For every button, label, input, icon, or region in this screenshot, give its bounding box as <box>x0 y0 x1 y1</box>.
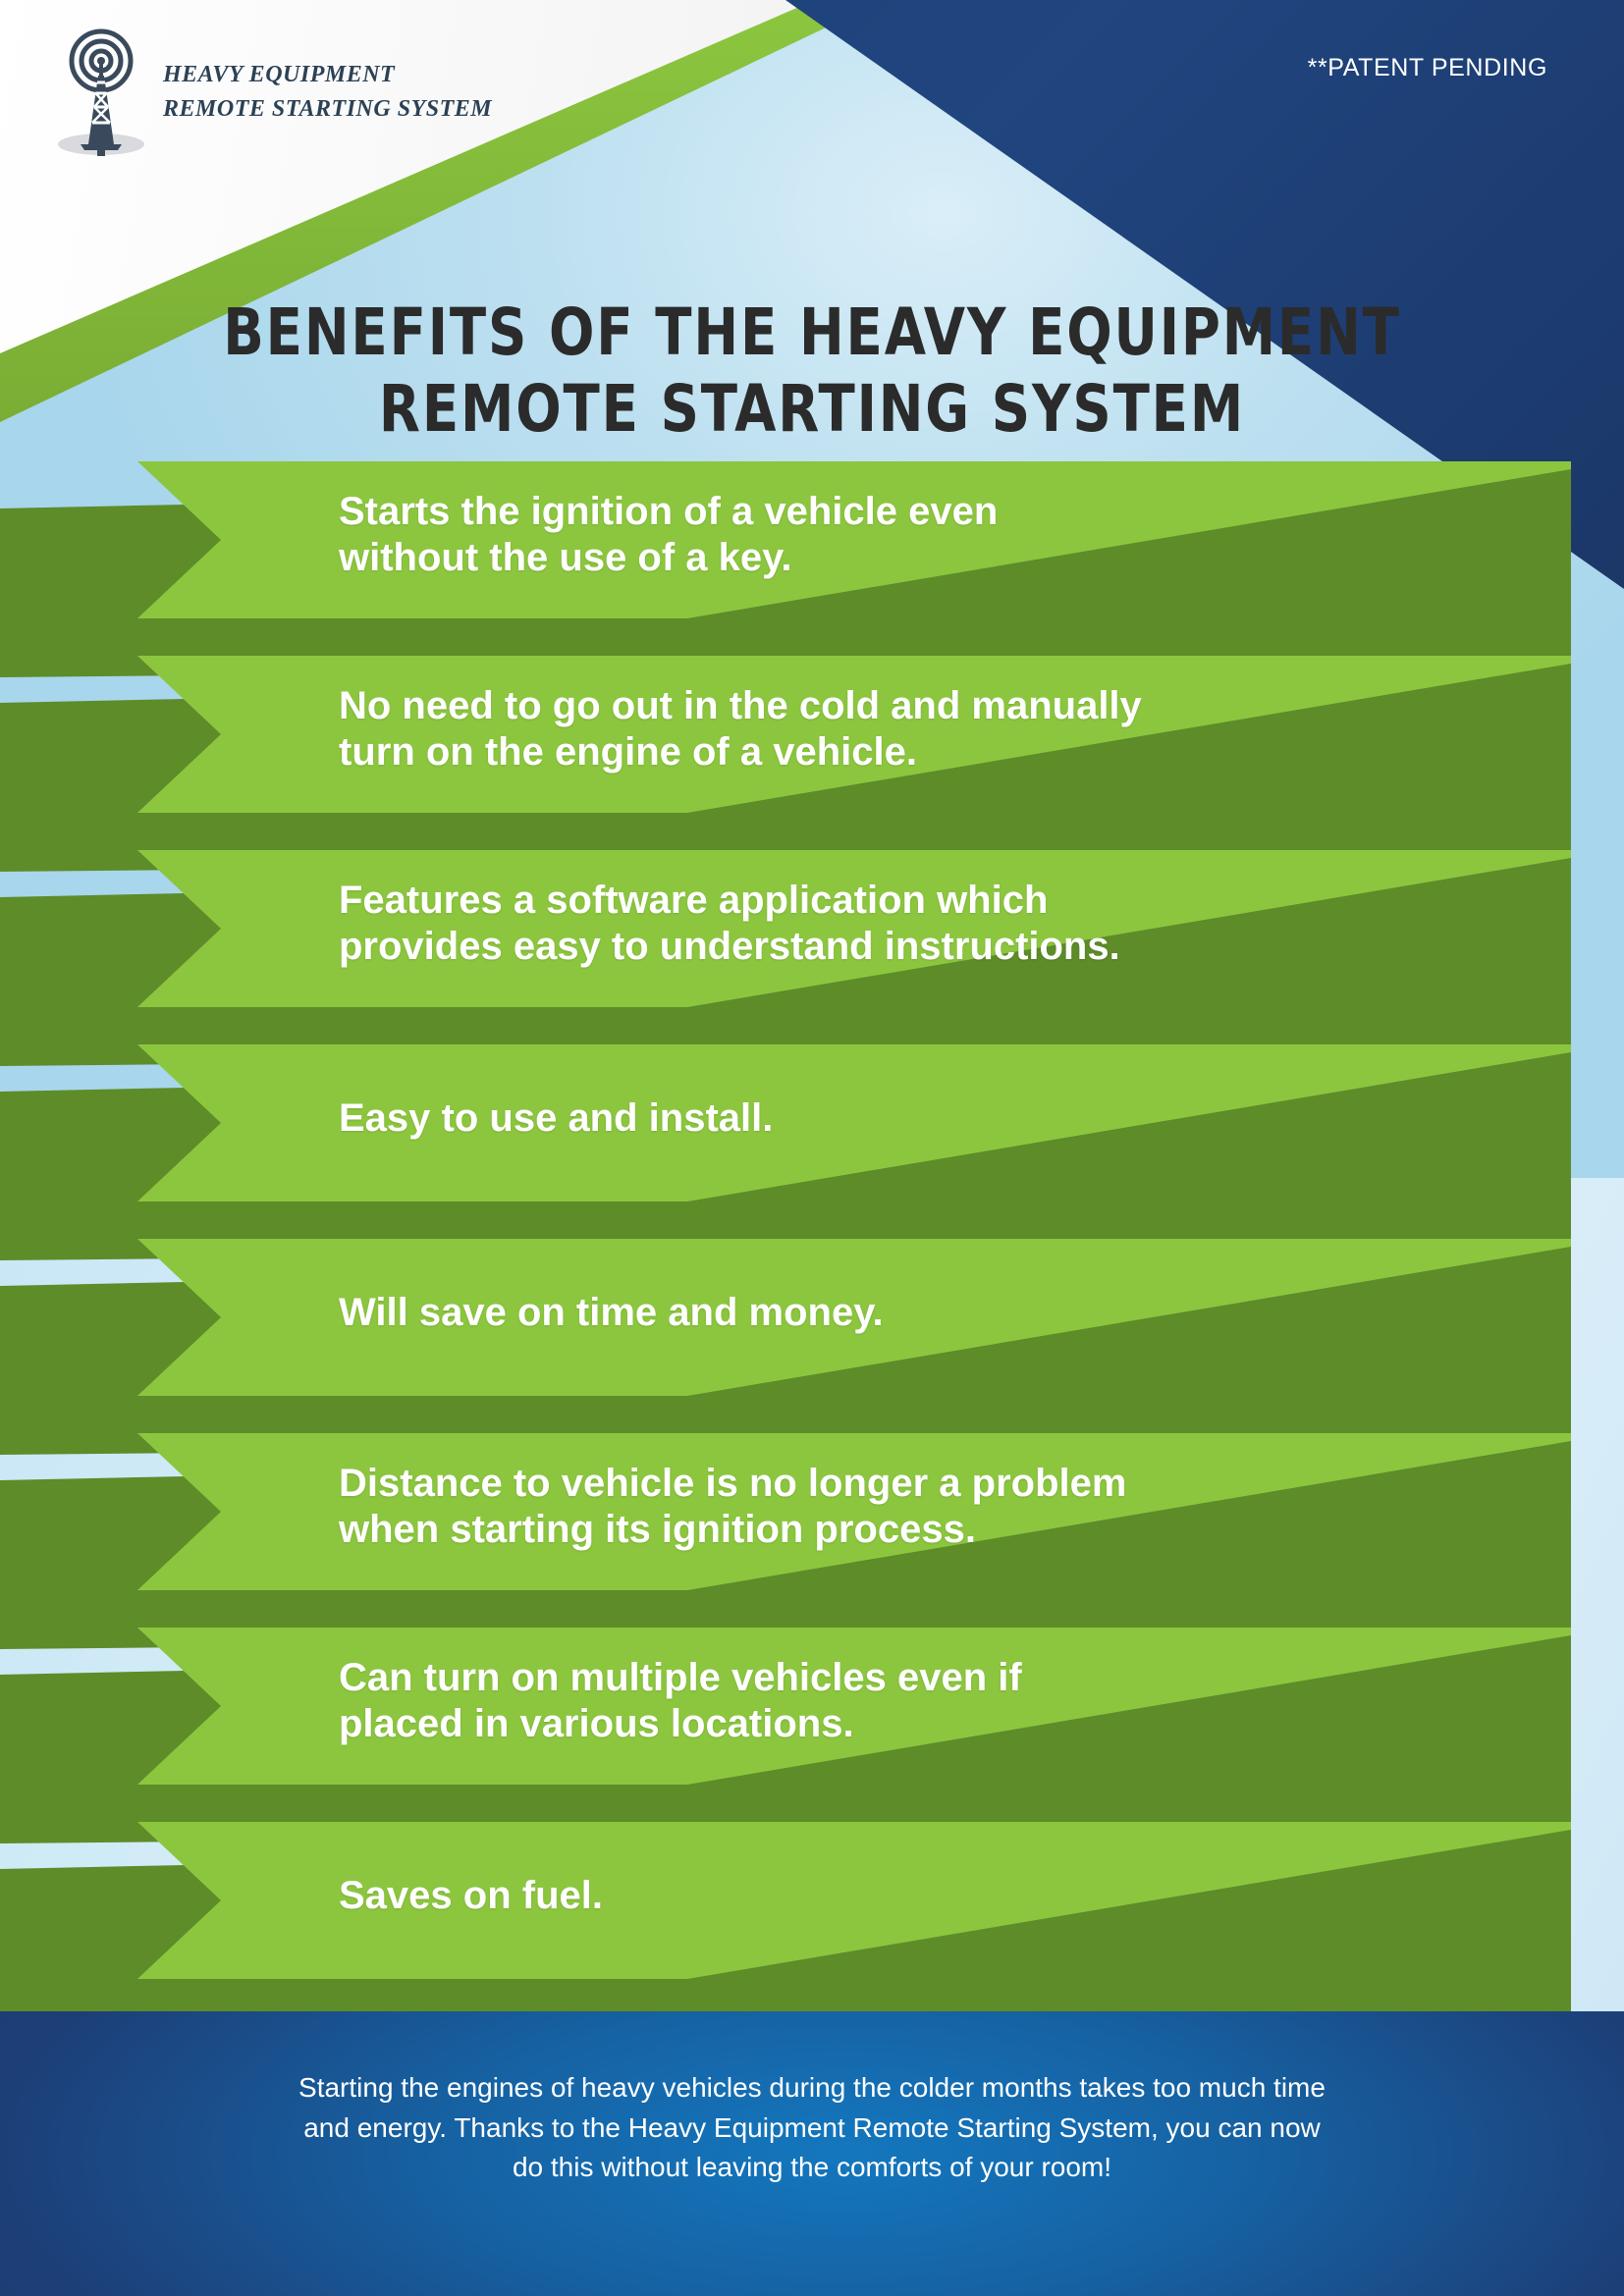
footer-line-2: and energy. Thanks to the Heavy Equipmen… <box>177 2109 1447 2149</box>
benefit-text-line2: without the use of a key. <box>339 535 1447 581</box>
benefits-list: Starts the ignition of a vehicle evenwit… <box>0 461 1624 2032</box>
benefit-text-line1: Saves on fuel. <box>339 1873 1447 1919</box>
radio-tower-icon <box>47 28 155 156</box>
benefit-text-line2: placed in various locations. <box>339 1701 1447 1747</box>
benefit-text-line1: Will save on time and money. <box>339 1290 1447 1336</box>
benefit-text: No need to go out in the cold and manual… <box>339 683 1447 775</box>
benefit-text-line2: when starting its ignition process. <box>339 1507 1447 1553</box>
footer-line-1: Starting the engines of heavy vehicles d… <box>177 2068 1447 2109</box>
patent-pending-note: **PATENT PENDING <box>1308 54 1547 82</box>
benefit-text: Easy to use and install. <box>339 1095 1447 1142</box>
brand-name-line1: HEAVY EQUIPMENT <box>163 62 395 87</box>
benefit-text-line2: turn on the engine of a vehicle. <box>339 729 1447 775</box>
benefit-text-line1: Starts the ignition of a vehicle even <box>339 489 1447 535</box>
page-title-line2: REMOTE STARTING SYSTEM <box>65 371 1559 448</box>
footer-panel: Starting the engines of heavy vehicles d… <box>0 2011 1624 2296</box>
brand-logo: HEAVY EQUIPMENT REMOTE STARTING SYSTEM <box>47 24 558 161</box>
benefit-text: Features a software application whichpro… <box>339 878 1447 970</box>
page-title: BENEFITS OF THE HEAVY EQUIPMENT REMOTE S… <box>65 294 1559 448</box>
footer-line-3: do this without leaving the comforts of … <box>177 2148 1447 2188</box>
brand-name-line2: REMOTE STARTING SYSTEM <box>163 96 492 122</box>
benefit-text: Can turn on multiple vehicles even ifpla… <box>339 1655 1447 1747</box>
page-title-line1: BENEFITS OF THE HEAVY EQUIPMENT <box>65 294 1559 371</box>
brand-name: HEAVY EQUIPMENT REMOTE STARTING SYSTEM <box>163 58 492 127</box>
infographic-poster: HEAVY EQUIPMENT REMOTE STARTING SYSTEM *… <box>0 0 1624 2296</box>
benefit-text: Distance to vehicle is no longer a probl… <box>339 1461 1447 1553</box>
benefit-text-line1: Distance to vehicle is no longer a probl… <box>339 1461 1447 1507</box>
benefit-text: Starts the ignition of a vehicle evenwit… <box>339 489 1447 581</box>
benefit-text-line1: Easy to use and install. <box>339 1095 1447 1142</box>
benefit-text: Will save on time and money. <box>339 1290 1447 1336</box>
benefit-text-line2: provides easy to understand instructions… <box>339 924 1447 970</box>
footer-text: Starting the engines of heavy vehicles d… <box>177 2068 1447 2188</box>
benefit-text-line1: Can turn on multiple vehicles even if <box>339 1655 1447 1701</box>
benefit-text-line1: No need to go out in the cold and manual… <box>339 683 1447 729</box>
benefit-text-line1: Features a software application which <box>339 878 1447 924</box>
benefit-text: Saves on fuel. <box>339 1873 1447 1919</box>
